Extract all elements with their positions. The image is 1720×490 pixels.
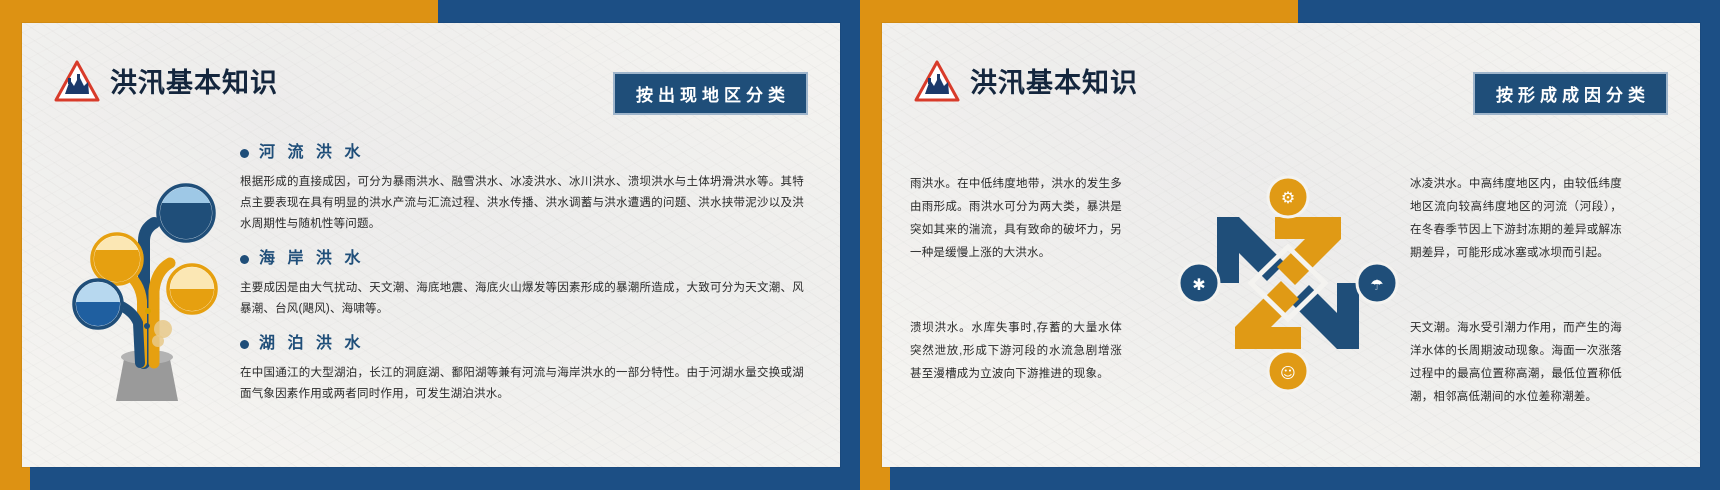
slide-left-card: 洪汛基本知识 按出现地区分类	[22, 23, 840, 467]
section-body: 根据形成的直接成因，可分为暴雨洪水、融雪洪水、冰凌洪水、冰川洪水、溃坝洪水与土体…	[240, 172, 804, 235]
svg-text:☺: ☺	[1280, 364, 1296, 382]
slide-right-right-column: 冰凌洪水。中高纬度地区内，由较低纬度地区流向较高纬度地区的河流（河段），在冬春季…	[1410, 173, 1622, 409]
page-title: 洪汛基本知识	[970, 66, 1138, 100]
section-heading: 湖 泊 洪 水	[240, 334, 804, 354]
section-body: 主要成因是由大气扰动、天文潮、海底地震、海底火山爆发等因素形成的暴潮所造成，大致…	[240, 278, 804, 320]
section-title: 湖 泊 洪 水	[259, 334, 364, 354]
slide-right-card: 洪汛基本知识 按形成成因分类 雨洪水。在中低纬度地带，洪水的发生多由雨形成。雨洪…	[882, 23, 1700, 467]
slide-deck: 洪汛基本知识 按出现地区分类	[0, 0, 1720, 490]
slide-left[interactable]: 洪汛基本知识 按出现地区分类	[0, 0, 860, 490]
category-chip: 按形成成因分类	[1473, 72, 1668, 115]
section-heading: 河 流 洪 水	[240, 143, 804, 163]
svg-text:☂: ☂	[1370, 276, 1383, 294]
section-body: 在中国通江的大型湖泊，长江的洞庭湖、鄱阳湖等兼有河流与海岸洪水的一部分特性。由于…	[240, 363, 804, 405]
section-lake-flood: 湖 泊 洪 水 在中国通江的大型湖泊，长江的洞庭湖、鄱阳湖等兼有河流与海岸洪水的…	[240, 334, 804, 405]
bullet-dot-icon	[240, 340, 249, 349]
svg-text:⚙: ⚙	[1281, 188, 1295, 207]
section-coastal-flood: 海 岸 洪 水 主要成因是由大气扰动、天文潮、海底地震、海底火山爆发等因素形成的…	[240, 249, 804, 320]
slide-right-left-column: 雨洪水。在中低纬度地带，洪水的发生多由雨形成。雨洪水可分为两大类，暴洪是突如其来…	[910, 173, 1122, 386]
category-chip: 按出现地区分类	[613, 72, 808, 115]
warning-triangle-flood-icon	[914, 60, 960, 102]
section-river-flood: 河 流 洪 水 根据形成的直接成因，可分为暴雨洪水、融雪洪水、冰凌洪水、冰川洪水…	[240, 143, 804, 235]
section-heading: 海 岸 洪 水	[240, 249, 804, 269]
magnifier-tree-infographic	[58, 151, 236, 401]
bullet-dot-icon	[240, 149, 249, 158]
interlocking-arrows-teamwork-icon: ⚙ ✱ ☂ ☺	[1177, 173, 1399, 393]
slide-right[interactable]: 洪汛基本知识 按形成成因分类 雨洪水。在中低纬度地带，洪水的发生多由雨形成。雨洪…	[860, 0, 1720, 490]
svg-text:✱: ✱	[1192, 275, 1205, 294]
paragraph-astronomical-tide: 天文潮。海水受引潮力作用，而产生的海洋水体的长周期波动现象。海面一次涨落过程中的…	[1410, 317, 1622, 409]
page-title: 洪汛基本知识	[110, 66, 278, 100]
slide-right-header: 洪汛基本知识 按形成成因分类	[882, 23, 1700, 118]
paragraph-ice-run-flood: 冰凌洪水。中高纬度地区内，由较低纬度地区流向较高纬度地区的河流（河段），在冬春季…	[1410, 173, 1622, 265]
section-title: 海 岸 洪 水	[259, 249, 364, 269]
bullet-dot-icon	[240, 255, 249, 264]
section-title: 河 流 洪 水	[259, 143, 364, 163]
slide-left-header: 洪汛基本知识 按出现地区分类	[22, 23, 840, 118]
paragraph-rain-flood: 雨洪水。在中低纬度地带，洪水的发生多由雨形成。雨洪水可分为两大类，暴洪是突如其来…	[910, 173, 1122, 265]
paragraph-dam-break-flood: 溃坝洪水。水库失事时,存蓄的大量水体突然泄放,形成下游河段的水流急剧增涨甚至漫槽…	[910, 317, 1122, 386]
slide-left-content: 河 流 洪 水 根据形成的直接成因，可分为暴雨洪水、融雪洪水、冰凌洪水、冰川洪水…	[240, 143, 804, 419]
warning-triangle-flood-icon	[54, 60, 100, 102]
